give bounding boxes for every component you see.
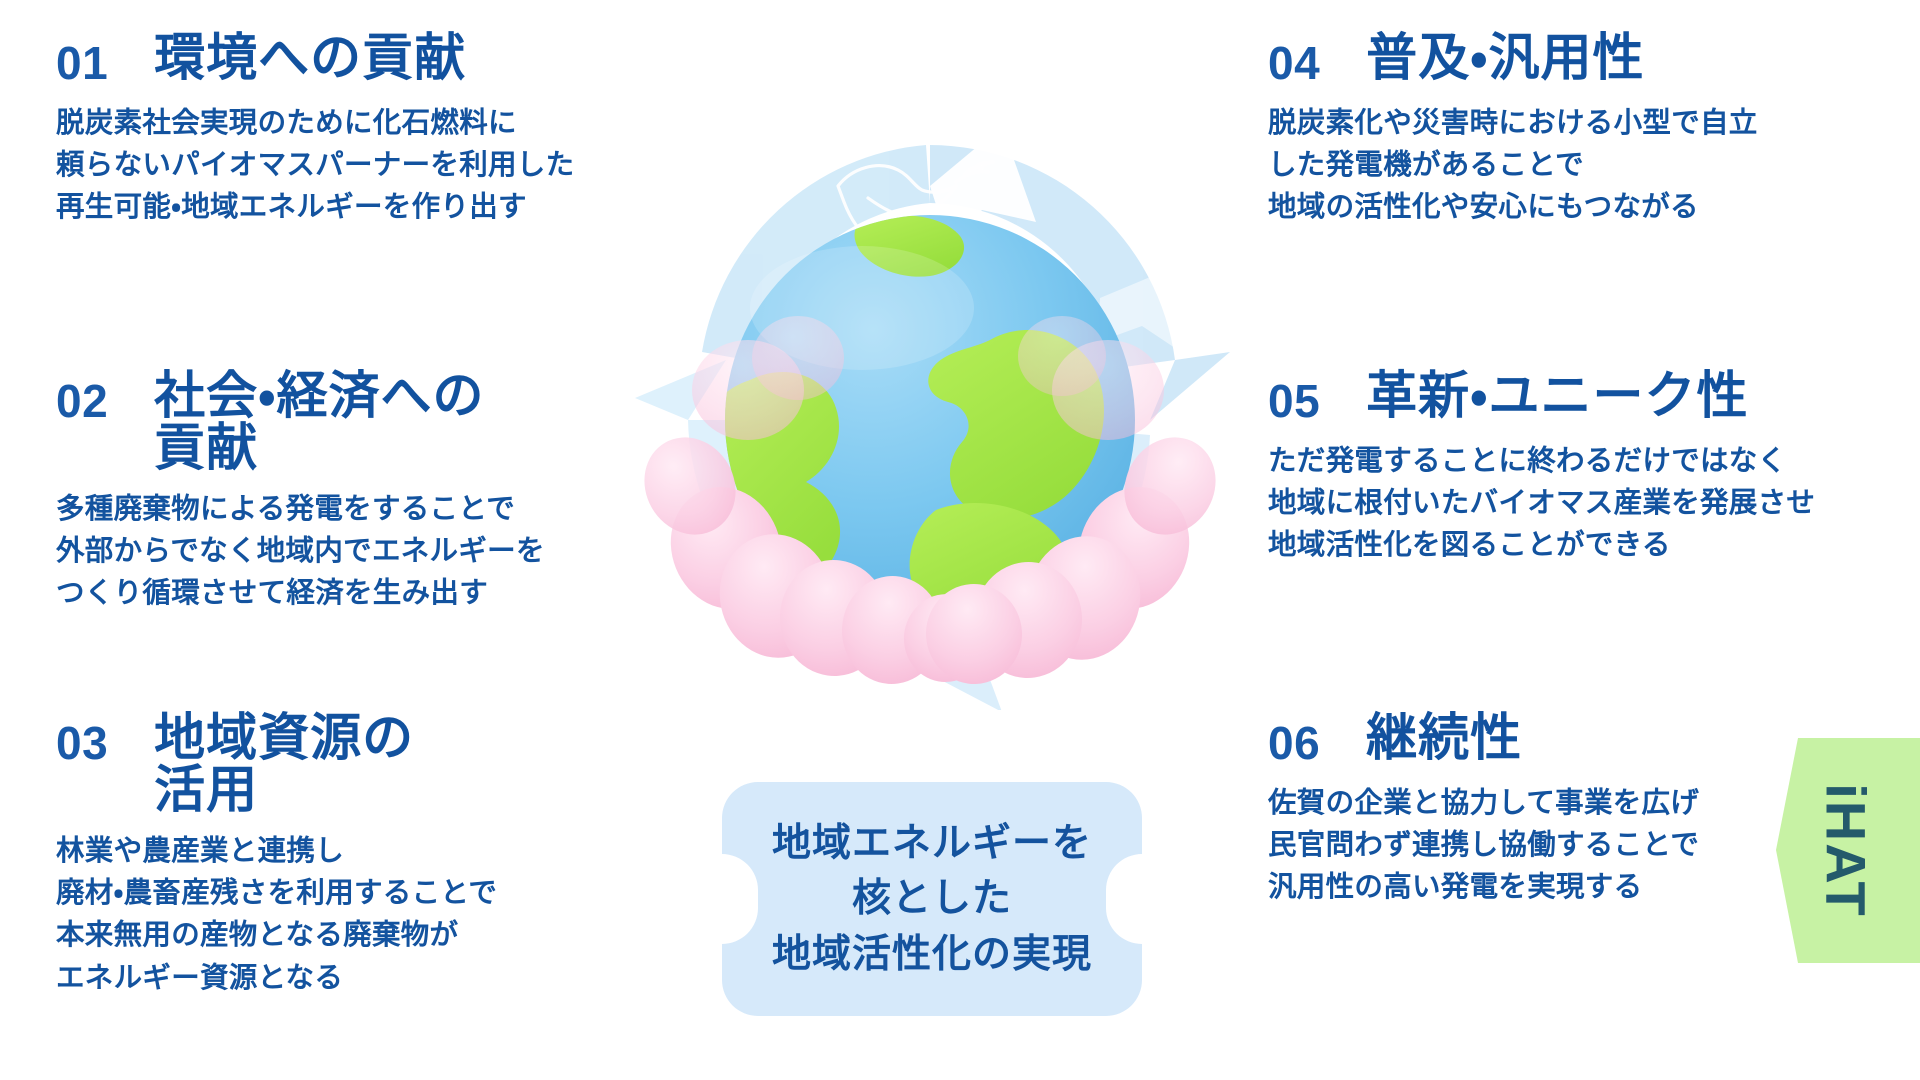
feature-number: 02 <box>56 370 108 424</box>
feature-body: 林業や農産業と連携し 廃材・農畜産残さを利用することで 本来無用の産物となる廃棄… <box>56 830 696 999</box>
feature-title: 社会・経済への 貢献 <box>154 370 484 474</box>
feature-heading: 04 普及・汎用性 <box>1268 32 1908 86</box>
feature-body: 脱炭素化や災害時における小型で自立 した発電機があることで 地域の活性化や安心に… <box>1268 102 1908 229</box>
feature-heading: 05 革新・ユニーク性 <box>1268 370 1920 424</box>
earth-recycle-illustration <box>630 90 1230 710</box>
feature-title: 地域資源の 活用 <box>154 712 414 816</box>
feature-heading: 03 地域資源の 活用 <box>56 712 696 816</box>
feature-title: 継続性 <box>1366 712 1522 764</box>
feature-body: ただ発電することに終わるだけではなく 地域に根付いたバイオマス産業を発展させ 地… <box>1268 440 1920 567</box>
feature-title: 普及・汎用性 <box>1366 32 1644 84</box>
feature-number: 01 <box>56 32 108 86</box>
feature-block-04: 04 普及・汎用性 脱炭素化や災害時における小型で自立 した発電機があることで … <box>1268 32 1908 229</box>
feature-number: 03 <box>56 712 108 766</box>
logo-text: iHAT <box>1734 777 1920 925</box>
feature-title: 革新・ユニーク性 <box>1366 370 1748 422</box>
feature-body: 多種廃棄物による発電をすることで 外部からでなく地域内でエネルギーを つくり循環… <box>56 488 696 615</box>
feature-title: 環境への貢献 <box>154 32 466 84</box>
feature-number: 05 <box>1268 370 1320 424</box>
callout-text: 地域エネルギーを 核とした 地域活性化の実現 <box>722 782 1142 1016</box>
feature-block-03: 03 地域資源の 活用 林業や農産業と連携し 廃材・農畜産残さを利用することで … <box>56 712 696 999</box>
feature-block-01: 01 環境への貢献 脱炭素社会実現のために化石燃料に 頼らないパイオマスパーナー… <box>56 32 696 229</box>
feature-body: 脱炭素社会実現のために化石燃料に 頼らないパイオマスパーナーを利用した 再生可能… <box>56 102 696 229</box>
feature-number: 04 <box>1268 32 1320 86</box>
center-callout: 地域エネルギーを 核とした 地域活性化の実現 <box>722 782 1142 1016</box>
feature-block-02: 02 社会・経済への 貢献 多種廃棄物による発電をすることで 外部からでなく地域… <box>56 370 696 615</box>
infographic-canvas: 01 環境への貢献 脱炭素社会実現のために化石燃料に 頼らないパイオマスパーナー… <box>0 0 1920 1080</box>
feature-heading: 02 社会・経済への 貢献 <box>56 370 696 474</box>
feature-number: 06 <box>1268 712 1320 766</box>
feature-heading: 01 環境への貢献 <box>56 32 696 86</box>
ihat-logo: iHAT <box>1772 738 1920 963</box>
feature-block-05: 05 革新・ユニーク性 ただ発電することに終わるだけではなく 地域に根付いたバイ… <box>1268 370 1920 567</box>
